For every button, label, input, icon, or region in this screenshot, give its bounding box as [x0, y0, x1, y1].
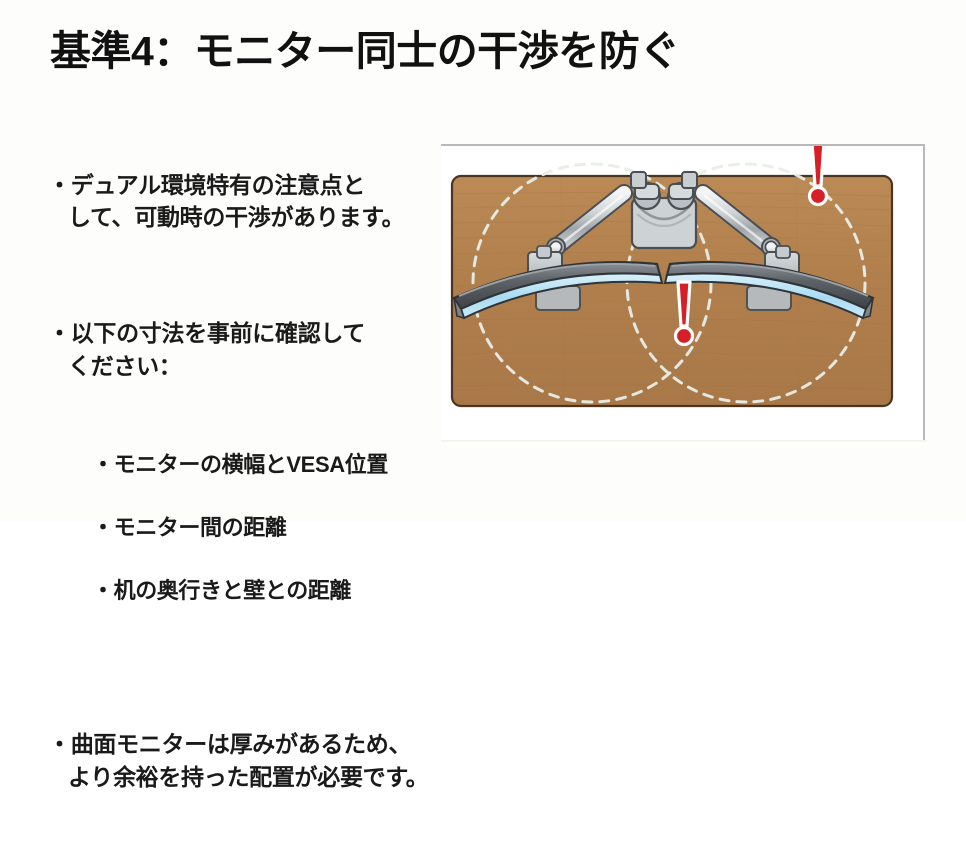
bullet-list: ・デュアル環境特有の注意点と して、可動時の干渉があります。 ・以下の寸法を事前…	[48, 136, 448, 844]
page-title: 基準4：モニター同士の干渉を防ぐ	[50, 27, 680, 76]
bullet-line-1: デュアル環境特有の注意点と	[71, 172, 365, 198]
sub-bullet-label: 机の奥行きと壁との距離	[114, 578, 351, 603]
bullet-item: ・デュアル環境特有の注意点と して、可動時の干渉があります。	[48, 136, 448, 267]
sub-bullet-item: ・モニターの横幅とVESA位置	[48, 450, 448, 480]
sub-bullet-marker: ・	[92, 515, 114, 540]
sub-bullet-list: ・モニターの横幅とVESA位置 ・モニター間の距離 ・机の奥行きと壁との距離	[48, 417, 448, 639]
sub-bullet-item: ・机の奥行きと壁との距離	[48, 576, 448, 606]
bullet-item: ・曲面モニターは厚みがあるため、 より余裕を持った配置が必要です。	[48, 696, 448, 827]
bullet-line-1: 以下の寸法を事前に確認して	[71, 320, 365, 346]
bullet-line-1: 曲面モニターは厚みがあるため、	[71, 731, 412, 757]
dual-monitor-illustration	[441, 144, 925, 440]
bullet-line-2: より余裕を持った配置が必要です。	[48, 761, 448, 794]
bullet-item: ・以下の寸法を事前に確認して ください： ・モニターの横幅とVESA位置 ・モニ…	[48, 285, 448, 672]
slide-root: 基準4：モニター同士の干渉を防ぐ ・デュアル環境特有の注意点と して、可動時の干…	[0, 0, 966, 522]
bullet-line-2: ください：	[48, 350, 448, 383]
sub-bullet-label: モニター間の距離	[114, 515, 287, 540]
sub-bullet-label: モニターの横幅とVESA位置	[114, 452, 388, 477]
sub-bullet-item: ・モニター間の距離	[48, 513, 448, 543]
panel-shadow	[441, 440, 927, 443]
sub-bullet-marker: ・	[92, 578, 114, 603]
bullet-marker: ・	[48, 320, 71, 346]
bullet-marker: ・	[48, 172, 71, 198]
bullet-line-2: して、可動時の干渉があります。	[48, 201, 448, 234]
bullet-marker: ・	[48, 731, 71, 757]
sub-bullet-marker: ・	[92, 452, 114, 477]
